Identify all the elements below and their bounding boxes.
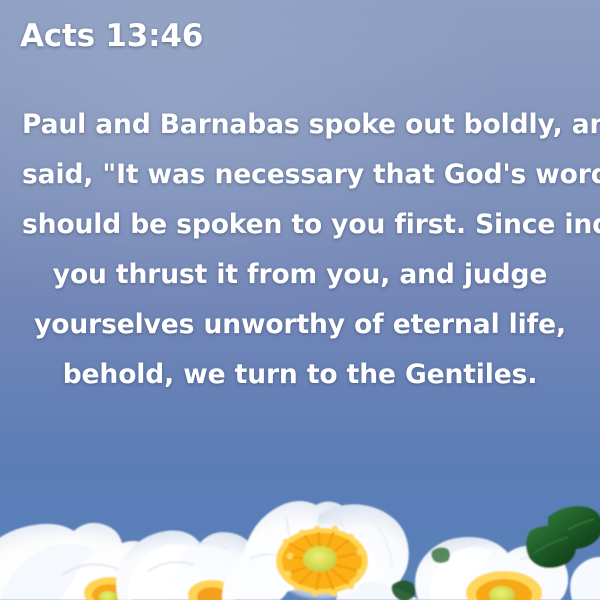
page-title: Acts 13:46 (20, 18, 203, 54)
verse-line: should be spoken to you first. Since ind… (22, 200, 578, 250)
verse-line: yourselves unworthy of eternal life, (22, 300, 578, 350)
verse-text-block: Paul and Barnabas spoke out boldly, and … (0, 100, 600, 400)
verse-card: Acts 13:46 Paul and Barnabas spoke out b… (0, 0, 600, 600)
flower-center (222, 501, 418, 600)
flower-photo-region (0, 425, 600, 600)
verse-line: Paul and Barnabas spoke out boldly, and (22, 100, 578, 150)
verse-line: you thrust it from you, and judge (22, 250, 578, 300)
flower-far-right (570, 557, 600, 600)
verse-line: behold, we turn to the Gentiles. (22, 350, 578, 400)
leaf-bud-small (431, 547, 450, 563)
verse-line: said, "It was necessary that God's word (22, 150, 578, 200)
flower-center-disc (270, 523, 374, 599)
leaf-right-lower (526, 525, 576, 568)
